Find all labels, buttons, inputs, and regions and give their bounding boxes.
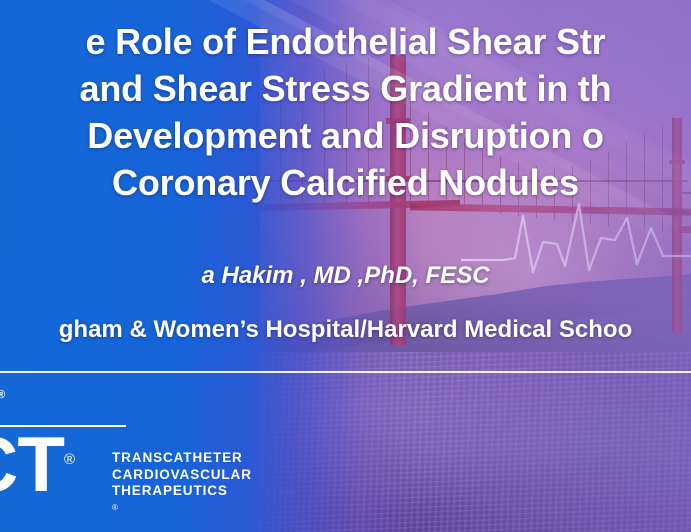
slide-title-line-2: and Shear Stress Gradient in th (0, 65, 691, 112)
slide-title-line-4: Coronary Calcified Nodules (0, 159, 691, 206)
tct-full-name: TRANSCATHETER CARDIOVASCULAR THERAPEUTIC… (112, 450, 252, 520)
tct-logo: RF® CT® TRANSCATHETER CARDIOVASCULAR THE… (0, 388, 286, 508)
tct-word-3: THERAPEUTICS® (112, 483, 252, 520)
crf-registered-mark: ® (0, 389, 6, 401)
tct-registered-mark: ® (64, 451, 74, 468)
slide-title-line-1: e Role of Endothelial Shear Str (0, 18, 691, 65)
tct-letters: CT (0, 420, 64, 508)
tct-word-1: TRANSCATHETER (112, 450, 252, 467)
slide-title: e Role of Endothelial Shear Str and Shea… (0, 18, 691, 206)
tct-words-registered-mark: ® (112, 503, 119, 512)
presenter-affiliation: gham & Women’s Hospital/Harvard Medical … (0, 316, 691, 344)
horizontal-divider (0, 371, 691, 373)
slide-title-line-3: Development and Disruption o (0, 112, 691, 159)
crf-logo-text: RF® (0, 388, 6, 412)
presenter-name: a Hakim , MD ,PhD, FESC (0, 262, 691, 290)
tct-wordmark: CT® (0, 421, 74, 503)
tct-word-3-text: THERAPEUTICS (112, 483, 252, 500)
presentation-title-slide: e Role of Endothelial Shear Str and Shea… (0, 0, 691, 532)
tct-word-2: CARDIOVASCULAR (112, 467, 252, 484)
